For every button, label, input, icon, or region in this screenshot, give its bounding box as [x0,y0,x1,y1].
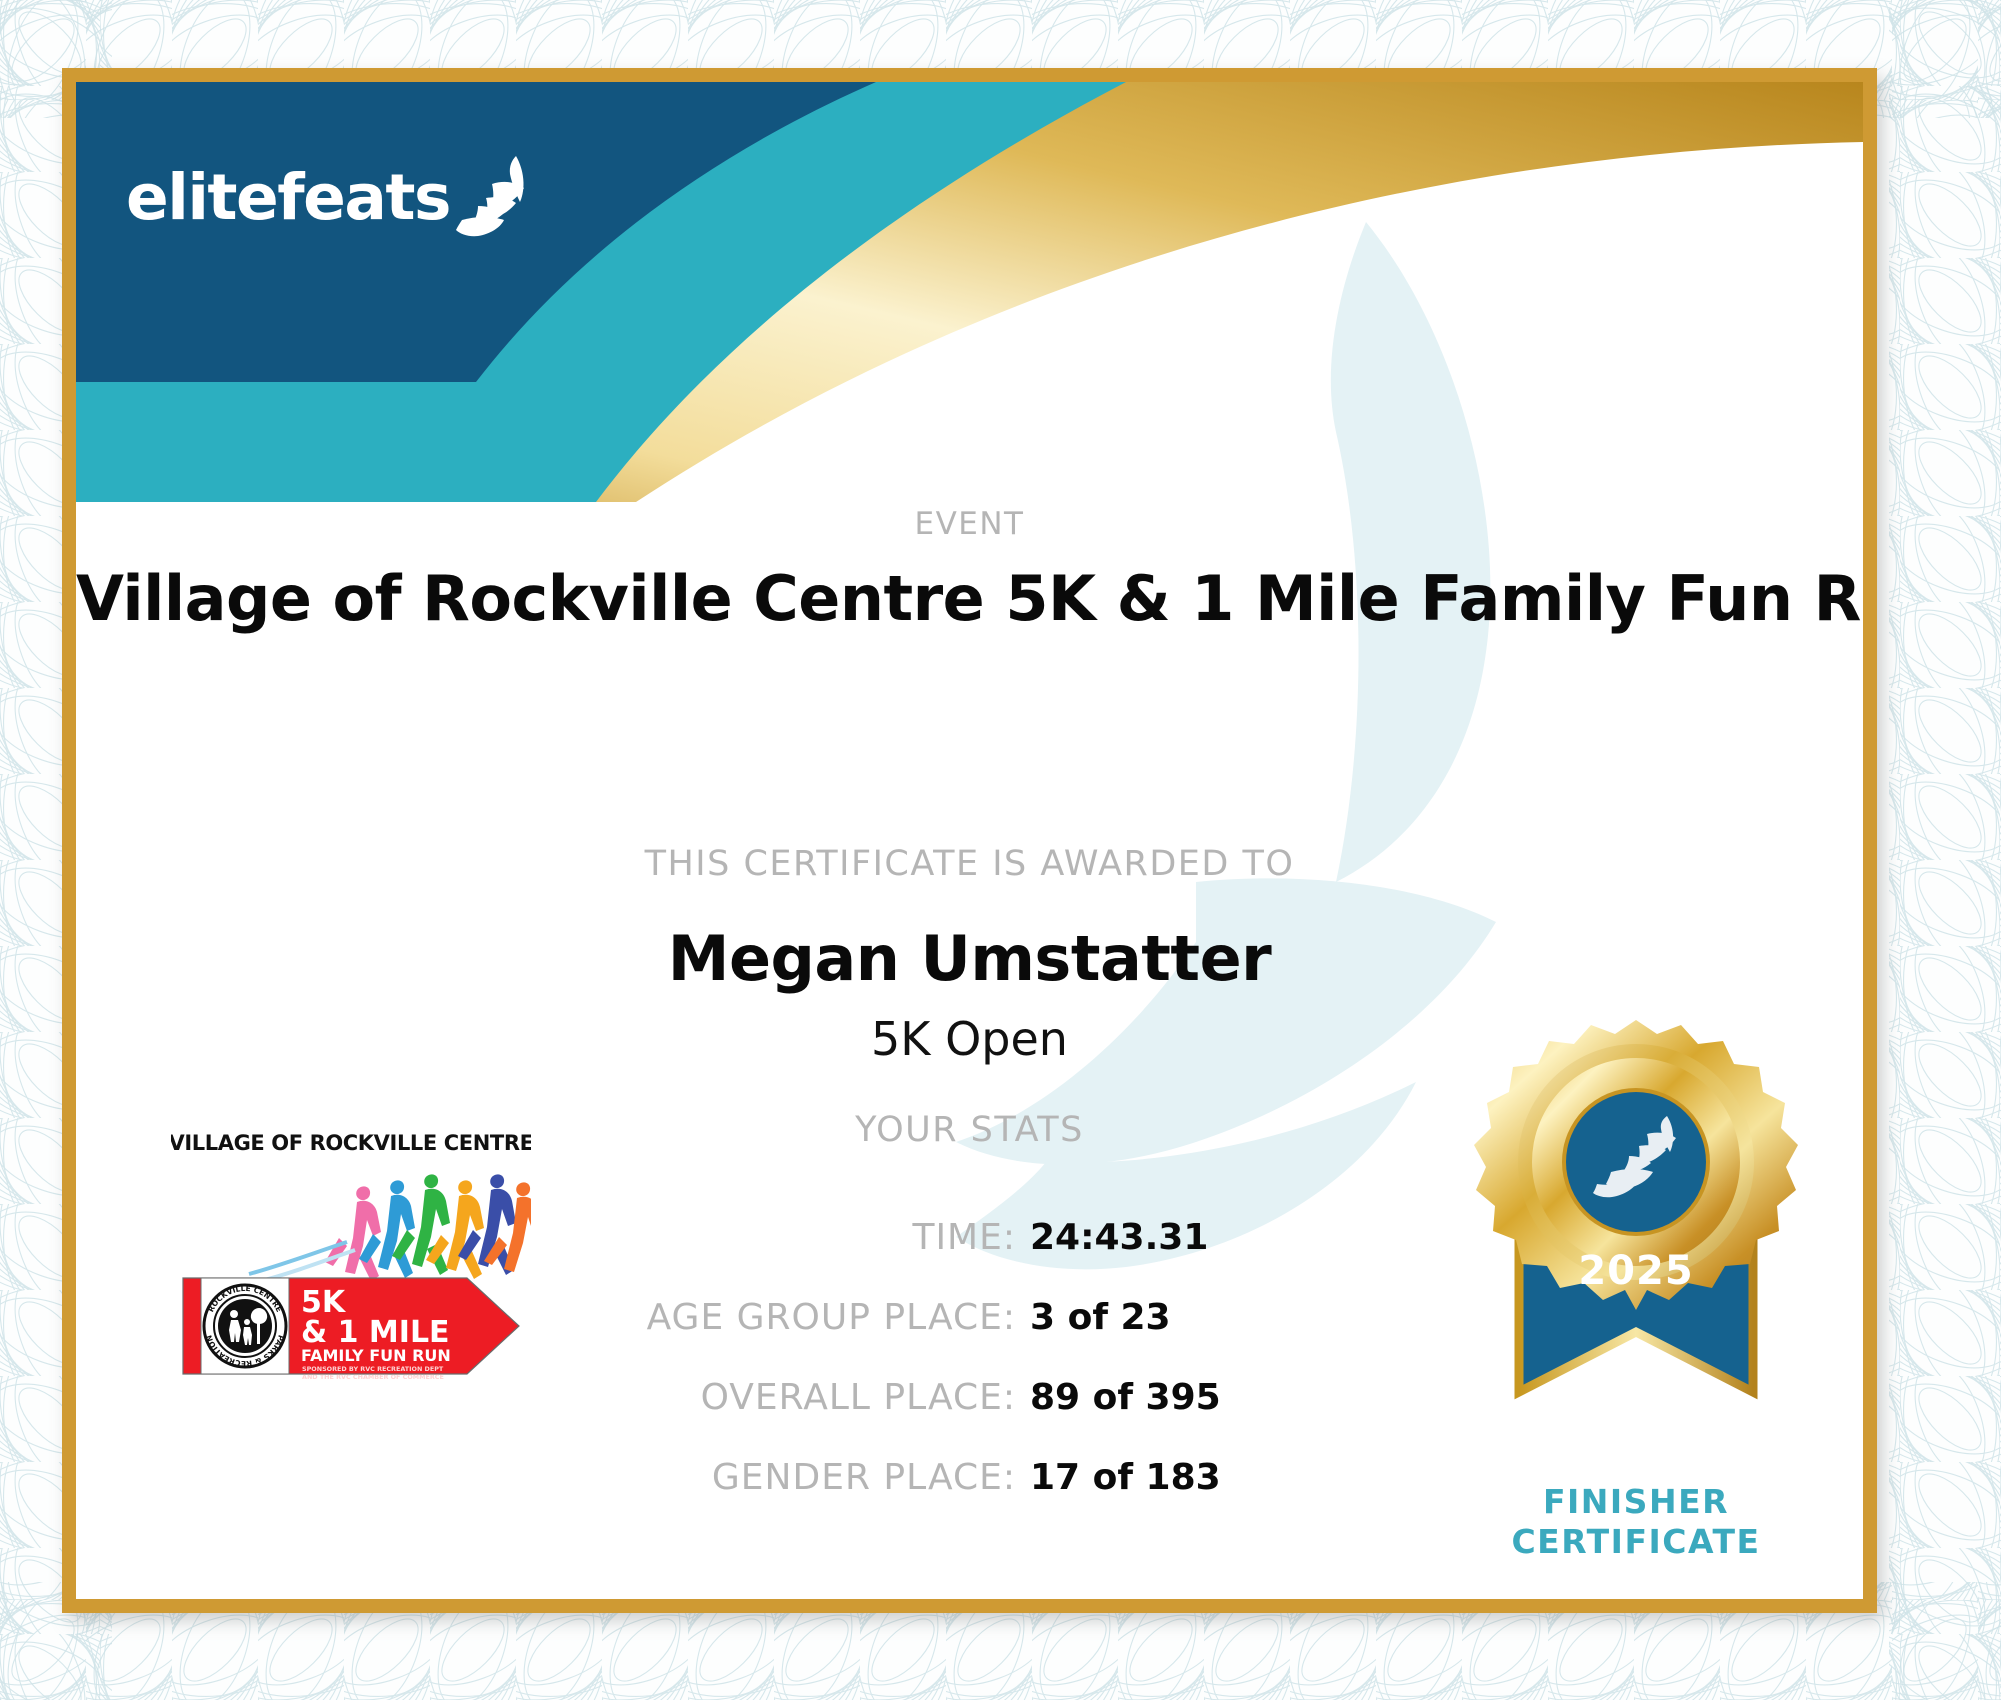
event-logo-sponsor-1: SPONSORED BY RVC RECREATION DEPT [302,1365,444,1373]
stat-value-time: 24:43.31 [1016,1217,1208,1258]
recipient-name: Megan Umstatter [76,922,1863,995]
finisher-certificate-caption: FINISHER CERTIFICATE [1456,1482,1816,1563]
event-logo-subhead: FAMILY FUN RUN [301,1346,451,1365]
event-logo-arrow-banner: ROCKVILLE CENTRE PARKS & RECREATION 5K &… [183,1278,519,1381]
stat-row-overall-place: OVERALL PLACE: 89 of 395 [406,1377,1306,1429]
finisher-caption-line1: FINISHER [1456,1482,1816,1522]
event-logo-headline-2: & 1 MILE [301,1315,450,1350]
stats-list: TIME: 24:43.31 AGE GROUP PLACE: 3 of 23 … [406,1217,1306,1537]
event-logo: VILLAGE OF ROCKVILLE CENTRE [171,1126,531,1396]
stat-row-age-group-place: AGE GROUP PLACE: 3 of 23 [406,1297,1306,1349]
certificate-page: elitefeats EVENT Village of R [0,0,2001,1700]
stat-row-gender-place: GENDER PLACE: 17 of 183 [406,1457,1306,1509]
stat-value-gender-place: 17 of 183 [1016,1457,1221,1498]
event-logo-sponsor-2: AND THE RVC CHAMBER OF COMMERCE [302,1373,444,1381]
stat-value-age-group-place: 3 of 23 [1016,1297,1171,1338]
runners-graphic [249,1174,531,1282]
finisher-medal-badge: 2025 [1471,1012,1801,1482]
medal-year: 2025 [1578,1248,1693,1294]
stat-value-overall-place: 89 of 395 [1016,1377,1221,1418]
certificate-body: EVENT Village of Rockville Centre 5K & 1… [76,82,1863,1599]
event-logo-top-text: VILLAGE OF ROCKVILLE CENTRE [171,1131,531,1155]
event-section-label: EVENT [76,506,1863,542]
finisher-caption-line2: CERTIFICATE [1456,1522,1816,1562]
stat-label-gender-place: GENDER PLACE: [406,1457,1016,1498]
stat-row-time: TIME: 24:43.31 [406,1217,1306,1269]
parks-recreation-seal: ROCKVILLE CENTRE PARKS & RECREATION [204,1284,286,1368]
certificate-card: elitefeats EVENT Village of R [62,68,1877,1613]
event-title: Village of Rockville Centre 5K & 1 Mile … [76,562,1863,635]
awarded-to-label: THIS CERTIFICATE IS AWARDED TO [76,844,1863,884]
